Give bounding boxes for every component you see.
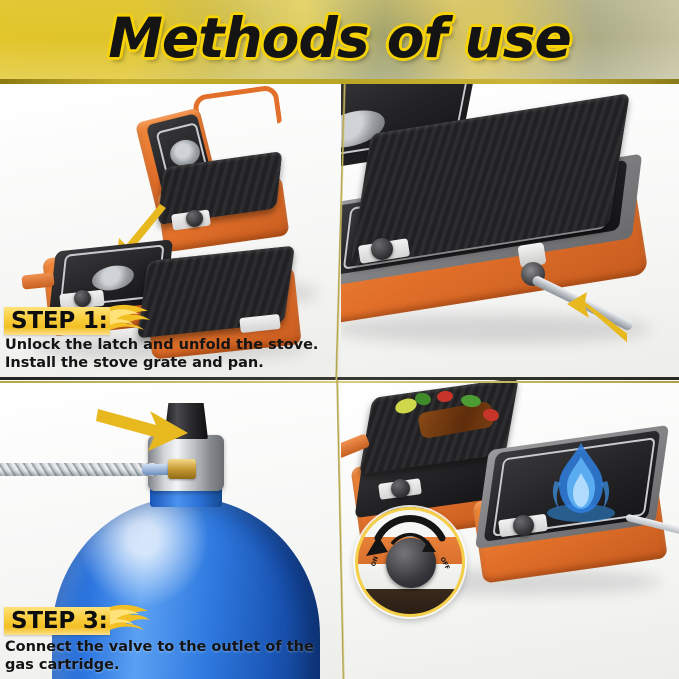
steps-grid: STEP 1: Unlock the latch and unfold the … bbox=[0, 84, 679, 679]
step-3-panel: STEP 3: Connect the valve to the outlet … bbox=[0, 379, 341, 679]
horizontal-divider bbox=[0, 377, 679, 380]
step-1-panel: STEP 1: Unlock the latch and unfold the … bbox=[0, 84, 341, 379]
step-3-label: STEP 3: bbox=[11, 610, 108, 633]
infographic-page: Methods of use bbox=[0, 0, 679, 679]
control-knob-left bbox=[74, 290, 91, 307]
control-knob-upper bbox=[186, 210, 203, 227]
step-2-panel: STEP 2: Insert the connector into the in… bbox=[341, 84, 679, 379]
header-banner: Methods of use bbox=[0, 0, 679, 84]
step-1-banner: STEP 1: bbox=[4, 307, 110, 335]
step-3-description: Connect the valve to the outlet of the g… bbox=[5, 638, 335, 675]
blue-flame-icon bbox=[533, 439, 629, 523]
right-down-arrow-icon bbox=[96, 403, 192, 457]
up-left-arrow-icon bbox=[537, 280, 627, 354]
step-1-label: STEP 1: bbox=[11, 310, 108, 333]
page-title: Methods of use bbox=[0, 6, 679, 70]
step-4-scene: ON OFF bbox=[341, 379, 679, 679]
control-knob-left bbox=[391, 479, 410, 498]
step-3-banner: STEP 3: bbox=[4, 607, 110, 635]
control-knob-right bbox=[513, 515, 534, 536]
step-1-label-banner: STEP 1: bbox=[4, 307, 110, 335]
step-3-label-banner: STEP 3: bbox=[4, 607, 110, 635]
horizontal-divider-gold bbox=[0, 381, 679, 383]
braided-hose bbox=[0, 463, 160, 476]
step-4-panel: ON OFF STEP 4: Turn the knob left or rig… bbox=[341, 379, 679, 679]
brass-fitting bbox=[168, 459, 196, 479]
control-knob-closeup: ON OFF bbox=[355, 507, 465, 617]
step-1-description: Unlock the latch and unfold the stove. I… bbox=[5, 336, 335, 373]
flame-icon bbox=[110, 603, 154, 637]
carry-handle bbox=[192, 84, 283, 135]
flame-icon bbox=[110, 303, 154, 337]
step-2-scene bbox=[341, 84, 679, 379]
control-knob bbox=[371, 238, 393, 260]
